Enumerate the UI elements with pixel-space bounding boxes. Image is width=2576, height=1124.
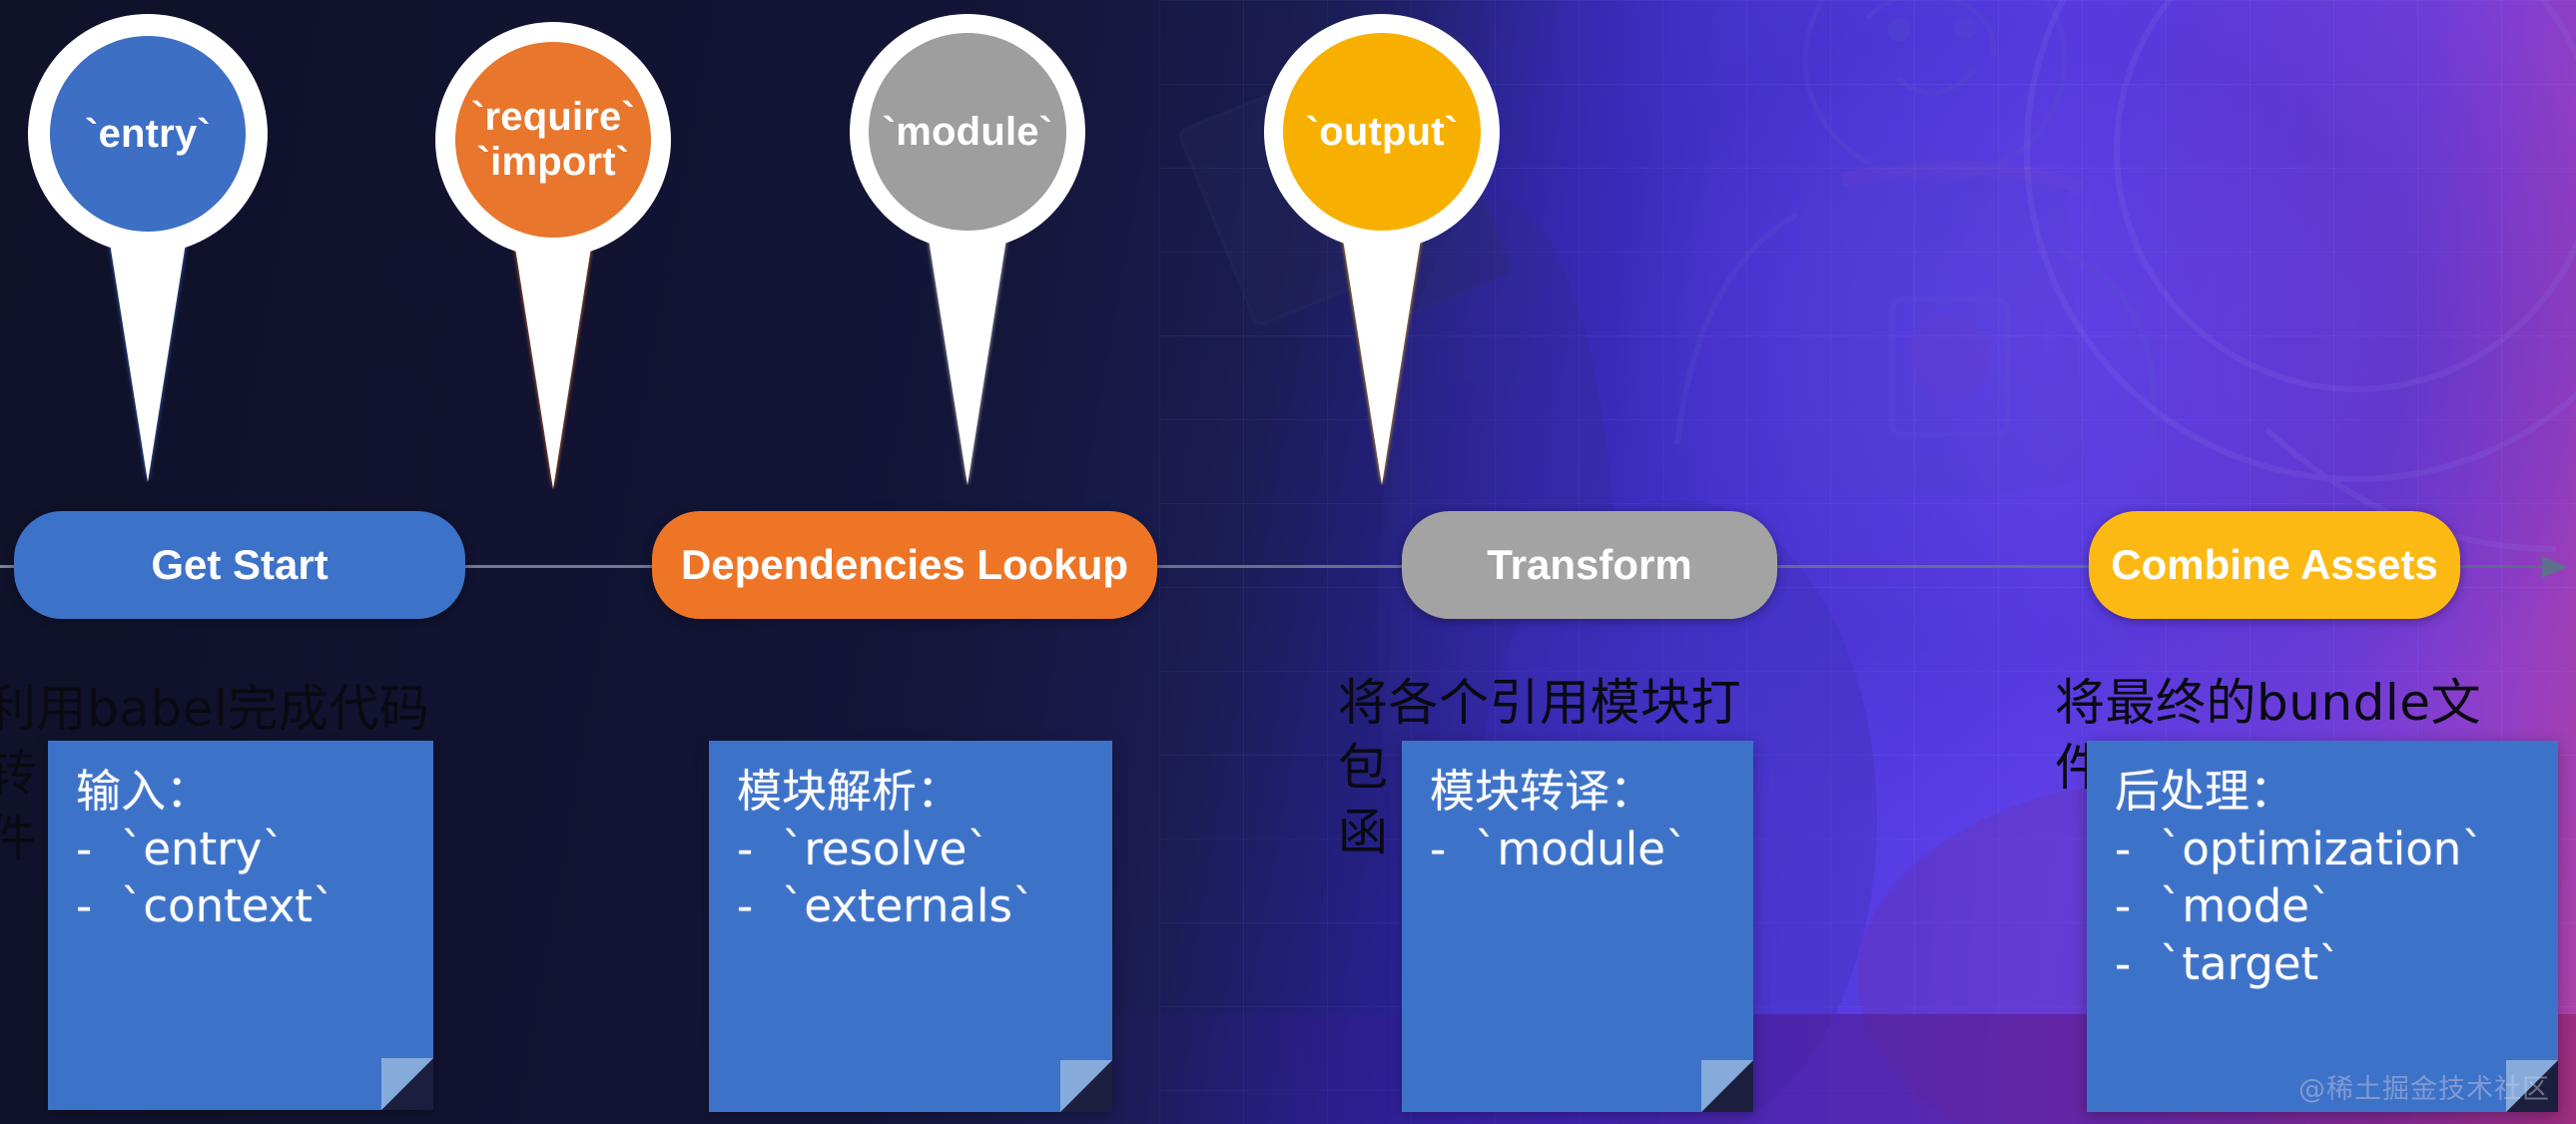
- pin-inner-require-import: `require` `import`: [455, 42, 651, 238]
- pin-entry[interactable]: `entry`: [28, 14, 268, 254]
- note-item-0-1: - `context`: [76, 877, 407, 935]
- pin-ball-entry: `entry`: [28, 14, 268, 254]
- note-item-1-0: - `resolve`: [737, 821, 1086, 878]
- note-body-0: 输入： - `entry` - `context`: [48, 741, 433, 935]
- note-card-transform[interactable]: 模块转译： - `module`: [1402, 741, 1753, 1112]
- diagram-canvas: 利用babel完成代码 转 件 将各个引用模块打 包 函 将最终的bundle文…: [0, 0, 2576, 1124]
- pin-ball-module: `module`: [850, 14, 1085, 250]
- note-body-1: 模块解析： - `resolve` - `externals`: [709, 741, 1112, 935]
- pill-combine-assets[interactable]: Combine Assets: [2089, 511, 2460, 619]
- note-item-0-0: - `entry`: [76, 821, 407, 878]
- pin-ball-require-import: `require` `import`: [435, 22, 671, 258]
- pin-inner-output: `output`: [1283, 33, 1481, 231]
- note-heading-3: 后处理：: [2115, 763, 2532, 821]
- pin-module[interactable]: `module`: [850, 14, 1085, 250]
- pin-inner-entry: `entry`: [50, 36, 246, 232]
- note-item-2-0: - `module`: [1430, 821, 1727, 878]
- note-item-3-0: - `optimization`: [2115, 821, 2532, 878]
- pill-get-start[interactable]: Get Start: [14, 511, 465, 619]
- pin-require-import[interactable]: `require` `import`: [435, 22, 671, 258]
- note-item-3-2: - `target`: [2115, 935, 2532, 993]
- note-heading-2: 模块转译：: [1430, 763, 1727, 821]
- pin-tail-module: [926, 220, 1009, 485]
- note-body-2: 模块转译： - `module`: [1402, 741, 1753, 877]
- pill-dependencies-lookup[interactable]: Dependencies Lookup: [652, 511, 1157, 619]
- pin-output[interactable]: `output`: [1264, 14, 1500, 250]
- note-body-3: 后处理： - `optimization` - `mode` - `target…: [2087, 741, 2558, 992]
- pin-tail-require-import: [511, 222, 595, 489]
- note-heading-0: 输入：: [76, 763, 407, 821]
- note-heading-1: 模块解析：: [737, 763, 1086, 821]
- note-item-3-1: - `mode`: [2115, 877, 2532, 935]
- note-fold-shade-2: [1701, 1060, 1753, 1112]
- arrow-right-icon: [2542, 556, 2568, 578]
- note-card-get-start[interactable]: 输入： - `entry` - `context`: [48, 741, 433, 1110]
- watermark: @稀土掘金技术社区: [2298, 1067, 2550, 1106]
- note-card-dependencies-lookup[interactable]: 模块解析： - `resolve` - `externals`: [709, 741, 1112, 1112]
- note-card-combine-assets[interactable]: 后处理： - `optimization` - `mode` - `target…: [2087, 741, 2558, 1112]
- note-fold-shade-0: [381, 1058, 433, 1110]
- pill-transform[interactable]: Transform: [1402, 511, 1777, 619]
- pin-inner-module: `module`: [869, 33, 1066, 231]
- pin-tail-output: [1340, 220, 1424, 485]
- pin-ball-output: `output`: [1264, 14, 1500, 250]
- note-item-1-1: - `externals`: [737, 877, 1086, 935]
- pin-tail-entry: [106, 218, 190, 482]
- note-fold-shade-1: [1060, 1060, 1112, 1112]
